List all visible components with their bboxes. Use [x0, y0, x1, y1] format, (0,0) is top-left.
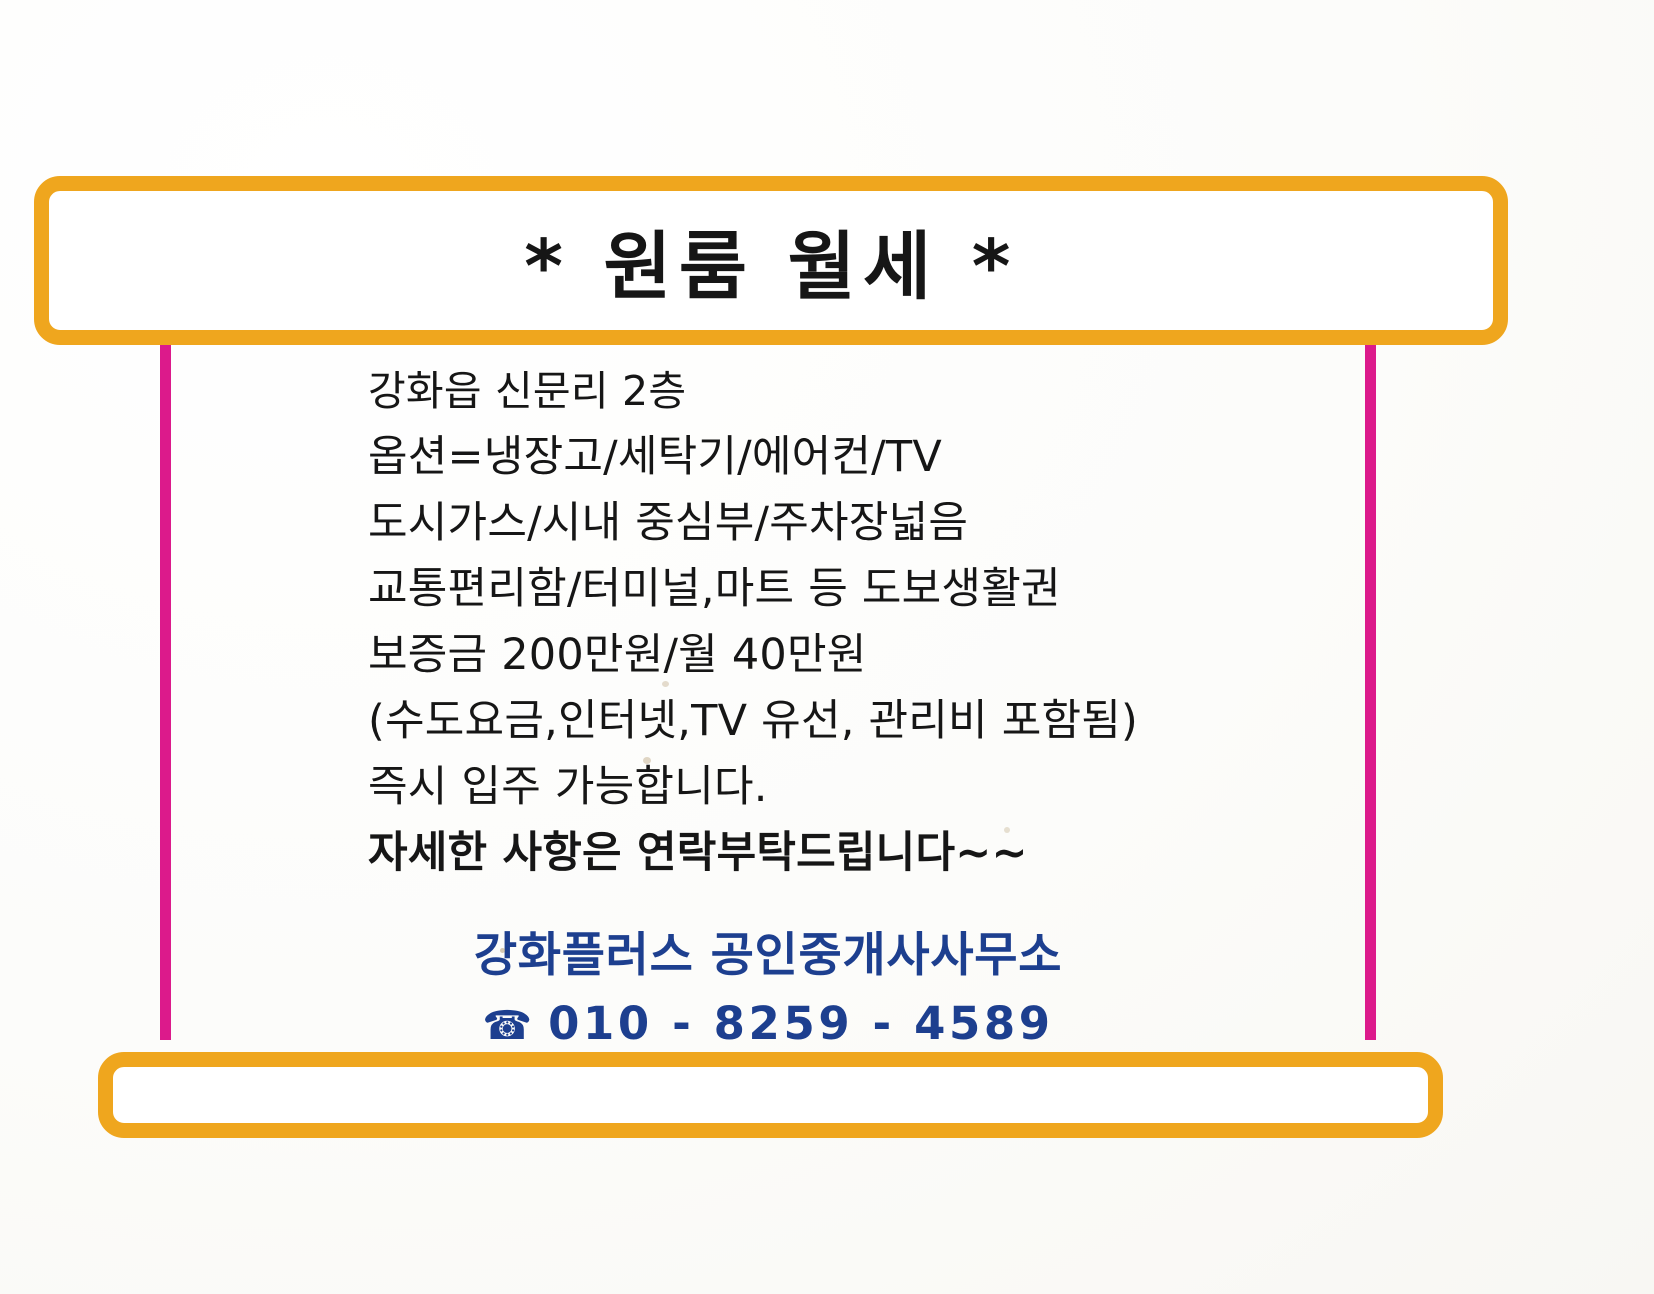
detail-line-contact-request: 자세한 사항은 연락부탁드립니다~~ — [368, 820, 1378, 886]
scan-speck — [500, 948, 505, 953]
listing-details: 강화읍 신문리 2층 옵션=냉장고/세탁기/에어컨/TV 도시가스/시내 중심부… — [368, 358, 1378, 886]
scan-speck — [643, 757, 651, 764]
page-title: * 원룸 월세 * — [34, 176, 1508, 345]
phone-number[interactable]: 010 - 8259 - 4589 — [548, 997, 1054, 1050]
detail-line-availability: 즉시 입주 가능합니다. — [368, 754, 1378, 820]
contact-footer: 강화플러스 공인중개사사무소 ☎ 010 - 8259 - 4589 — [160, 925, 1376, 1050]
detail-line: 교통편리함/터미널,마트 등 도보생활권 — [368, 556, 1378, 622]
detail-line: 옵션=냉장고/세탁기/에어컨/TV — [368, 424, 1378, 490]
detail-line: 도시가스/시내 중심부/주차장넓음 — [368, 490, 1378, 556]
telephone-icon: ☎ — [482, 1006, 532, 1046]
scan-speck — [662, 681, 669, 687]
scan-speck — [1004, 827, 1010, 833]
detail-line: 강화읍 신문리 2층 — [368, 358, 1378, 424]
detail-line-included: (수도요금,인터넷,TV 유선, 관리비 포함됨) — [368, 688, 1378, 754]
phone-row[interactable]: ☎ 010 - 8259 - 4589 — [160, 997, 1376, 1050]
orange-footer-bar — [98, 1052, 1443, 1138]
flyer-canvas: * 원룸 월세 * 강화읍 신문리 2층 옵션=냉장고/세탁기/에어컨/TV 도… — [0, 0, 1654, 1294]
detail-line-price: 보증금 200만원/월 40만원 — [368, 622, 1378, 688]
office-name: 강화플러스 공인중개사사무소 — [160, 925, 1376, 987]
